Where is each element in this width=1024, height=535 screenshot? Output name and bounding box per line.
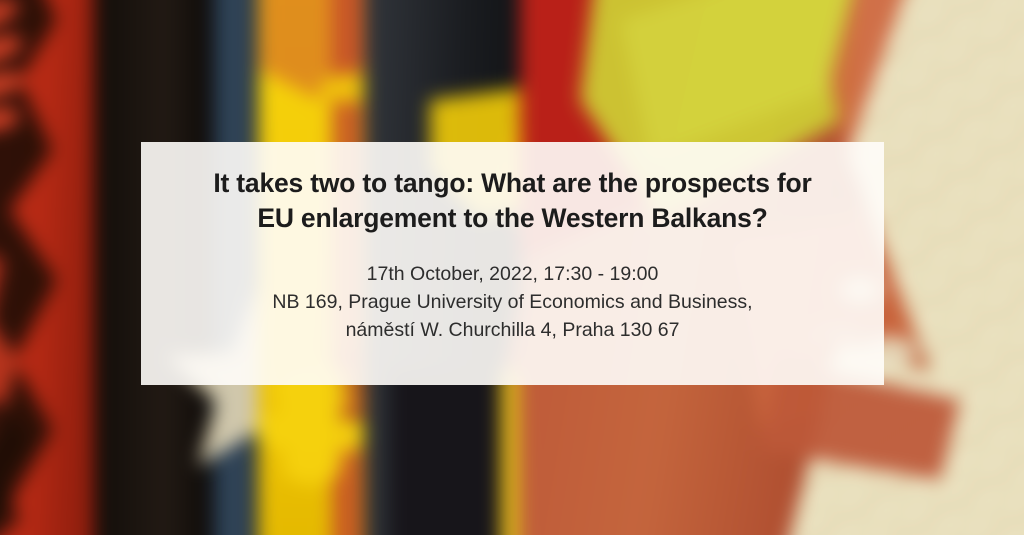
event-details: 17th October, 2022, 17:30 - 19:00 NB 169…	[272, 236, 752, 345]
event-title: It takes two to tango: What are the pros…	[193, 142, 833, 236]
event-banner: It takes two to tango: What are the pros…	[0, 0, 1024, 535]
event-address: náměstí W. Churchilla 4, Praha 130 67	[272, 316, 752, 344]
event-info-card: It takes two to tango: What are the pros…	[141, 142, 884, 385]
event-datetime: 17th October, 2022, 17:30 - 19:00	[272, 260, 752, 288]
event-venue: NB 169, Prague University of Economics a…	[272, 288, 752, 316]
